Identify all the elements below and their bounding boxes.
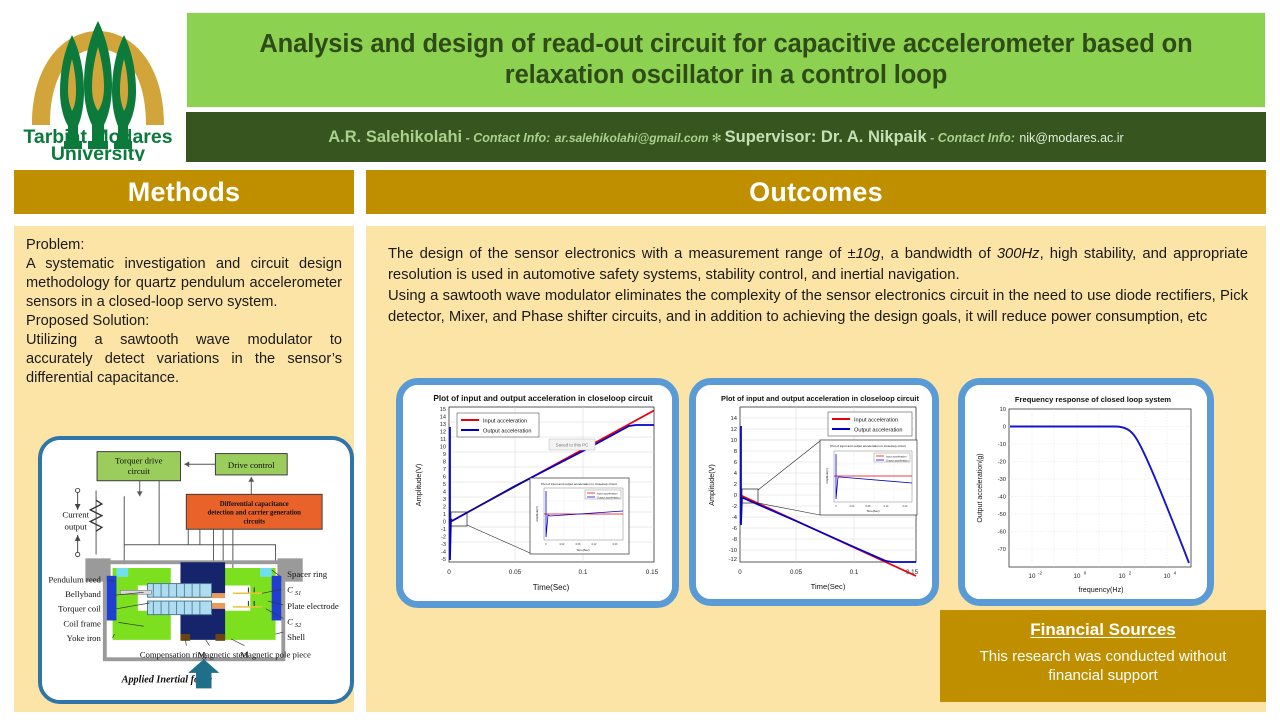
chart-card-closed-loop-positive-ramp[interactable]: Plot of input and output acceleration in… [396, 378, 679, 608]
author-name: A.R. Salehikolahi [328, 128, 462, 146]
label-cs1: C [287, 584, 293, 594]
chart2-title: Plot of input and output acceleration in… [721, 394, 919, 403]
label-current-output-2: output [65, 521, 88, 531]
c3-xtick-1-exp: -2 [1038, 571, 1042, 576]
label-pendulum-reed: Pendulum reed [48, 575, 101, 585]
c1-xtick-015: 0.15 [646, 569, 659, 576]
c3-ytick-m50: -50 [998, 512, 1006, 518]
chart1-title: Plot of input and output acceleration in… [433, 394, 653, 403]
c1-ytick-10: 10 [440, 445, 446, 451]
c2-ytick-10: 10 [731, 438, 737, 444]
c1-ytick-m4: -4 [441, 550, 446, 556]
separator-icon: ✻ [709, 131, 725, 145]
c3-ytick-m70: -70 [998, 547, 1006, 553]
solution-text: Utilizing a sawtooth wave modulator to a… [26, 331, 342, 388]
c1-inset: Plot of input and output acceleration in… [530, 478, 629, 554]
c1-legend-input: Input acceleration [483, 418, 527, 424]
c1-ytick-m5: -5 [441, 557, 446, 563]
c1-ytick-3: 3 [443, 497, 446, 503]
chart1-ylabel: Amplitude(V) [414, 464, 423, 507]
c2-legend-output: Output acceleration [854, 427, 903, 433]
solution-label: Proposed Solution: [26, 312, 342, 331]
c2-ytick-m12: -12 [729, 557, 737, 563]
c1-ytick-9: 9 [443, 452, 446, 458]
c2-ytick-0: 0 [734, 493, 737, 499]
accelerometer-diagram-card: Torquer drive circuit Drive control Diff… [38, 436, 354, 704]
outcomes-section-header: Outcomes [366, 170, 1266, 214]
c2-inset-xlabel: Time(Sec) [866, 509, 879, 513]
c1-inset-ylabel: Amplitude(V) [535, 506, 539, 522]
c2-inset: Plot of input and output acceleration in… [820, 440, 917, 515]
c2-inset-ylabel: Amplitude(V) [825, 468, 829, 484]
c3-xtick-3: 10 [1119, 573, 1126, 580]
outcomes-paragraph-2: Using a sawtooth wave modulator eliminat… [388, 286, 1248, 328]
c2-inset-xt3: 0.14 [884, 505, 889, 508]
c2-ytick-2: 2 [734, 482, 737, 488]
logo-line2: University [51, 143, 145, 161]
chart1-xlabel: Time(Sec) [533, 583, 570, 592]
c2-ytick-m6: -6 [732, 526, 737, 532]
c2-ytick-8: 8 [734, 449, 737, 455]
author-contact-label: - Contact Info: [466, 131, 551, 145]
label-current-output-1: Current [62, 510, 89, 520]
label-cs2: C [287, 616, 293, 626]
c3-ytick-m40: -40 [998, 495, 1006, 501]
c3-ytick-0: 0 [1003, 425, 1006, 431]
c1-ytick-5: 5 [443, 482, 446, 488]
c3-ytick-m30: -30 [998, 477, 1006, 483]
c2-xtick-01: 0.1 [850, 569, 859, 576]
p1-part-a: The design of the sensor electronics wit… [388, 246, 847, 262]
accelerometer-diagram: Torquer drive circuit Drive control Diff… [42, 440, 350, 700]
methods-body: Problem: A systematic investigation and … [26, 236, 342, 388]
c2-inset-xt2: 0.08 [866, 505, 871, 508]
c1-ytick-0: 0 [443, 520, 446, 526]
p1-part-b: , a bandwidth of [880, 246, 997, 262]
c1-ytick-8: 8 [443, 460, 446, 466]
c1-inset-title: Plot of input and output acceleration in… [541, 482, 617, 486]
label-torquer-coil: Torquer coil [58, 604, 101, 614]
c2-ytick-14: 14 [731, 416, 738, 422]
chart2-legend: Input acceleration Output acceleration [828, 412, 912, 436]
c2-ytick-m10: -10 [729, 548, 737, 554]
problem-label: Problem: [26, 236, 342, 255]
c2-xtick-005: 0.05 [790, 569, 803, 576]
label-bellyband: Bellyband [65, 589, 101, 599]
block-diffcap-line2: detection and carrier generation [207, 510, 301, 517]
c3-ytick-10: 10 [1000, 407, 1006, 413]
block-diffcap-line1: Differential capacitance [220, 501, 289, 508]
c2-inset-xt4: 0.20 [903, 505, 908, 508]
supervisor-contact-label: - Contact Info: [930, 131, 1015, 145]
financial-sources-body: This research was conducted without fina… [952, 648, 1254, 686]
c1-inset-xt4: 0.20 [613, 543, 618, 546]
methods-heading-label: Methods [128, 177, 240, 208]
methods-section-header: Methods [14, 170, 354, 214]
c2-ytick-m8: -8 [732, 537, 737, 543]
c1-inset-xt3: 0.12 [592, 543, 597, 546]
c3-xtick-2: 10 [1074, 573, 1081, 580]
chart3-ylabel: Output acceleration(g) [977, 453, 984, 522]
c1-inset-legend-output: Output acceleration [597, 495, 620, 499]
label-spacer-ring: Spacer ring [287, 569, 328, 579]
block-torquer-drive-line1: Torquer drive [115, 455, 163, 465]
c1-ytick-6: 6 [443, 475, 446, 481]
c1-inset-xlabel: Time(Sec) [576, 548, 589, 552]
c1-ytick-11: 11 [440, 437, 446, 443]
c2-legend-input: Input acceleration [854, 417, 898, 423]
chart-frequency-response: Frequency response of closed loop system… [965, 385, 1207, 599]
c2-xtick-0: 0 [738, 569, 742, 576]
poster-title-bar: Analysis and design of read-out circuit … [186, 12, 1266, 108]
c1-inset-legend-input: Input acceleration [597, 491, 618, 495]
author-bar: A.R. Salehikolahi - Contact Info: ar.sal… [186, 112, 1266, 162]
c2-ytick-m2: -2 [732, 504, 737, 510]
c1-ytick-7: 7 [443, 467, 446, 473]
label-yoke-iron: Yoke iron [67, 633, 102, 643]
c2-ytick-m4: -4 [732, 515, 738, 521]
problem-text: A systematic investigation and circuit d… [26, 255, 342, 312]
c1-annotation-chip: Saved to this PC [549, 439, 595, 450]
chart2-xlabel: Time(Sec) [811, 582, 846, 591]
c1-ytick-13: 13 [440, 422, 446, 428]
chart3-xlabel: frequency(Hz) [1078, 585, 1123, 594]
supervisor-email[interactable]: nik@modares.ac.ir [1019, 131, 1123, 145]
p1-bandwidth: 300Hz [997, 246, 1040, 262]
c1-annotation-text: Saved to this PC [556, 443, 589, 448]
c3-ytick-m20: -20 [998, 460, 1006, 466]
c1-inset-xt2: 0.06 [576, 543, 581, 546]
c2-ytick-12: 12 [731, 427, 737, 433]
c2-inset-legend-input: Input acceleration [886, 454, 907, 458]
author-email[interactable]: ar.salehikolahi@gmail.com [555, 131, 709, 145]
chart2-ylabel: Amplitude(V) [707, 464, 716, 506]
supervisor-name: Supervisor: Dr. A. Nikpaik [725, 128, 927, 146]
c1-inset-legend: Input acceleration Output acceleration [585, 490, 621, 499]
c2-inset-legend: Input acceleration Output acceleration [874, 453, 910, 462]
outcomes-body: The design of the sensor electronics wit… [388, 244, 1248, 328]
c3-xtick-4: 10 [1164, 573, 1171, 580]
c1-ytick-m2: -2 [441, 535, 446, 541]
c2-inset-xt1: 0.04 [850, 505, 855, 508]
c1-ytick-m3: -3 [441, 542, 446, 548]
methods-panel: Problem: A systematic investigation and … [14, 226, 354, 712]
block-torquer-drive-line2: circuit [128, 466, 151, 476]
c1-ytick-m1: -1 [441, 527, 446, 533]
chart1-legend: Input acceleration Output acceleration [457, 413, 539, 437]
outcomes-heading-label: Outcomes [749, 177, 883, 208]
chart-closed-loop-negative-ramp: Plot of input and output acceleration in… [696, 385, 932, 599]
financial-sources-box: Financial Sources This research was cond… [940, 610, 1266, 702]
label-coil-frame: Coil frame [63, 618, 101, 628]
chart-card-closed-loop-negative-ramp[interactable]: Plot of input and output acceleration in… [689, 378, 939, 606]
c1-ytick-2: 2 [443, 505, 446, 511]
university-logo: Tarbiat Modares University [14, 12, 182, 162]
c1-xtick-01: 0.1 [579, 569, 588, 576]
c1-inset-xt1: 0.02 [560, 543, 565, 546]
outcomes-paragraph-1: The design of the sensor electronics wit… [388, 244, 1248, 286]
p1-range: ±10g [847, 246, 880, 262]
block-drive-control: Drive control [228, 460, 275, 470]
c3-ytick-m10: -10 [998, 442, 1006, 448]
outcomes-panel: The design of the sensor electronics wit… [366, 226, 1266, 712]
university-logo-graphic: Tarbiat Modares University [18, 13, 178, 161]
chart3-title: Frequency response of closed loop system [1015, 395, 1171, 404]
c3-ytick-m60: -60 [998, 530, 1006, 536]
c1-xtick-005: 0.05 [509, 569, 522, 576]
block-diffcap-line3: circuits [244, 518, 266, 525]
poster-root: Tarbiat Modares University Analysis and … [0, 0, 1280, 720]
c3-xtick-1: 10 [1029, 573, 1036, 580]
label-plate-electrode: Plate electrode [287, 601, 339, 611]
c1-ytick-14: 14 [440, 415, 446, 421]
chart-closed-loop-positive-ramp: Plot of input and output acceleration in… [403, 385, 672, 601]
c1-ytick-12: 12 [440, 430, 446, 436]
financial-sources-title: Financial Sources [1030, 620, 1176, 640]
c2-inset-legend-output: Output acceleration [886, 458, 909, 462]
c1-ytick-4: 4 [443, 490, 446, 496]
c2-inset-title: Plot of input and output acceleration in… [830, 444, 906, 448]
c2-ytick-6: 6 [734, 460, 737, 466]
chart-card-frequency-response[interactable]: Frequency response of closed loop system… [958, 378, 1214, 606]
label-shell: Shell [287, 632, 306, 642]
page-title: Analysis and design of read-out circuit … [213, 29, 1239, 91]
c1-xtick-0: 0 [447, 569, 451, 576]
c1-legend-output: Output acceleration [483, 428, 532, 434]
c1-ytick-15: 15 [440, 407, 446, 413]
label-cs2-sub: S2 [295, 622, 302, 629]
label-cs1-sub: S1 [295, 590, 301, 597]
label-magnetic-pole-piece: Magnetic pole piece [240, 649, 311, 659]
c1-ytick-1: 1 [443, 512, 446, 518]
